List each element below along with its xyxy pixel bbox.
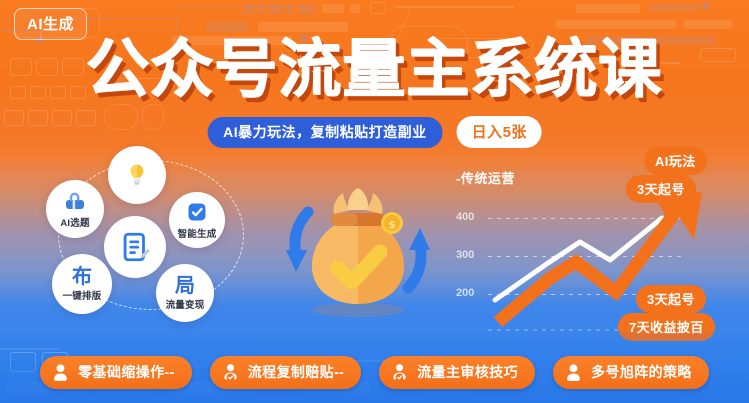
workflow-node-idea[interactable] [108,146,166,204]
user-icon [565,363,582,382]
workflow-node-monetize-glyph: 局 [175,276,195,296]
ai-topic-icon [63,189,87,213]
workflow-node-layout[interactable]: 布 一键排版 [52,254,112,314]
money-bag-illustration: $ [276,176,440,322]
workflow-node-generate[interactable]: 智能生成 [169,192,225,248]
feature-button-zero-basis[interactable]: 零基础缩操作-- [40,356,192,389]
lightbulb-icon [125,162,149,186]
workflow-node-generate-label: 智能生成 [178,226,217,240]
subtitle-main-pill: AI暴力玩法，复制粘贴打造副业 [207,117,443,148]
subtitle-row: AI暴力玩法，复制粘贴打造副业 日入5张 [207,116,542,148]
chart-badge-3day-bottom: 3天起号 [636,285,706,313]
feature-button-multi-account-label: 多号旭阵的策略 [591,362,692,382]
workflow-node-center[interactable] [104,216,166,278]
feature-button-review-skill-label: 流量主审核技巧 [417,362,518,382]
workflow-node-monetize-label: 流量变现 [166,297,205,311]
feature-button-review-skill[interactable]: 流量主审核技巧 [379,356,535,389]
feature-button-copy-process[interactable]: 流程复制赔贴-- [210,356,362,389]
check-note-icon [185,200,209,224]
workflow-node-layout-label: 一键排版 [63,288,102,302]
chart-badge-ai-method: AI玩法 [644,147,707,175]
subtitle-side-pill: 日入5张 [457,116,542,148]
user-icon [52,363,69,382]
workflow-diagram: AI选题 智能生成 布 一键排版 局 流量变现 [36,146,272,326]
user-check-icon [222,363,239,382]
feature-button-zero-basis-label: 零基础缩操作-- [78,362,175,382]
svg-text:$: $ [388,218,396,231]
workflow-node-monetize[interactable]: 局 流量变现 [156,264,214,322]
ai-generated-badge: AI生成 [14,8,87,40]
document-pen-icon [118,230,152,264]
feature-button-copy-process-label: 流程复制赔贴-- [248,362,345,382]
workflow-node-topic-label: AI选题 [60,215,89,229]
growth-chart: -传统运营 400 300 200 AI玩法 3天起号 3天起号 7天收益披百 [440,150,740,340]
workflow-node-layout-glyph: 布 [72,267,92,287]
feature-button-multi-account[interactable]: 多号旭阵的策略 [553,356,709,389]
chart-badge-3day-top: 3天起号 [626,175,696,203]
feature-button-row: 零基础缩操作-- 流程复制赔贴-- 流量主审核技巧 [0,356,749,389]
poster-root: AI生成 公众号流量主系统课 AI暴力玩法，复制粘贴打造副业 日入5张 [0,0,749,403]
page-title: 公众号流量主系统课 [87,38,663,101]
workflow-node-topic[interactable]: AI选题 [46,180,104,238]
user-check-icon [391,363,408,382]
